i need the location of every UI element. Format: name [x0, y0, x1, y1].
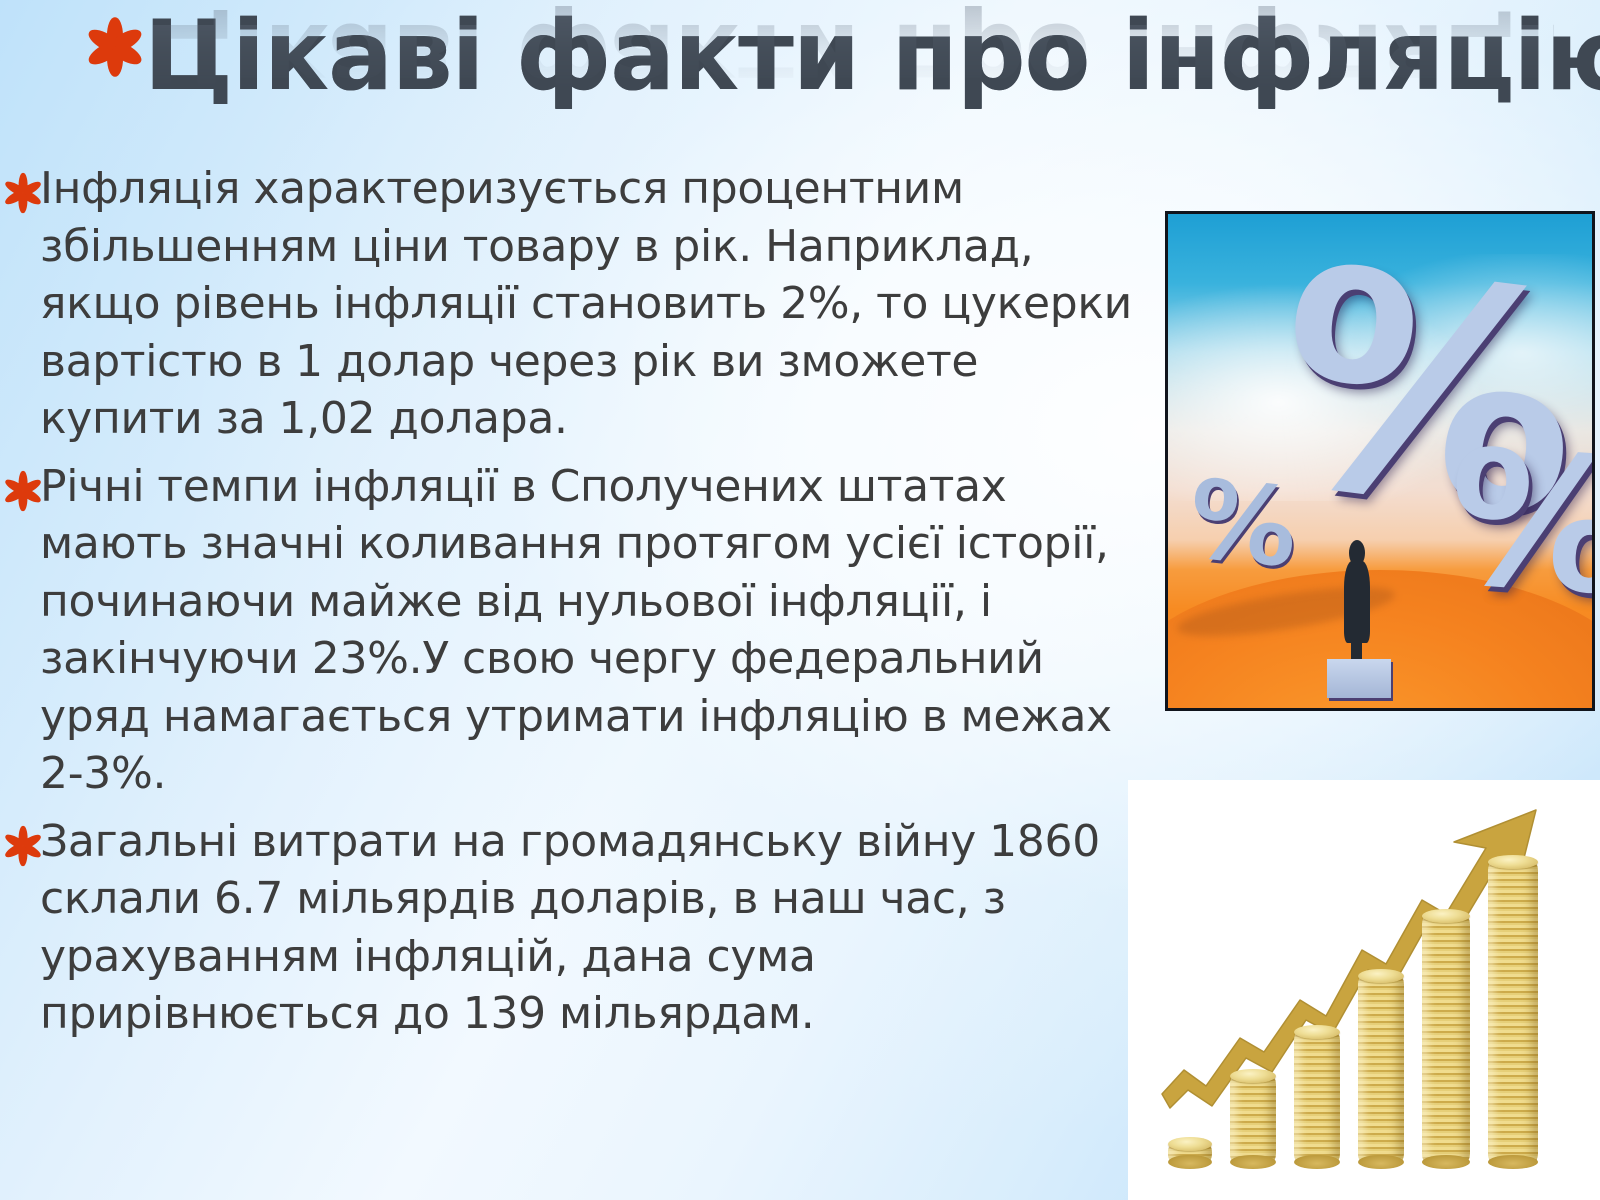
- bullet-text: Інфляція характеризується процентним збі…: [40, 160, 1150, 448]
- coin-stack: [1358, 976, 1404, 1162]
- percent-symbol-right: %: [1442, 425, 1595, 622]
- list-item: Річні темпи інфляції в Сполучених штатах…: [0, 458, 1150, 803]
- coin-stack: [1168, 1144, 1212, 1162]
- percent-symbols-illustration: % % %: [1165, 211, 1595, 711]
- page-title-reflection: Цікаві факти про інфляцію: [144, 6, 1554, 110]
- list-item: Загальні витрати на громадянську війну 1…: [0, 813, 1150, 1043]
- coin-chart-stage: [1154, 794, 1574, 1186]
- pedestal: [1327, 659, 1391, 699]
- coin-stack: [1422, 916, 1470, 1162]
- bullet-list: Інфляція характеризується процентним збі…: [0, 160, 1150, 1053]
- bullet-text: Річні темпи інфляції в Сполучених штатах…: [40, 458, 1150, 803]
- flower-asterisk-icon: [6, 172, 40, 214]
- slide-title-block: Цікаві факти про інфляцію Цікаві факти п…: [48, 4, 1568, 164]
- businessman-body: [1344, 561, 1369, 643]
- title-flower-asterisk-icon: [84, 16, 146, 78]
- coin-stack: [1230, 1076, 1276, 1162]
- businessman-figure: [1338, 535, 1376, 663]
- coin-stack: [1488, 862, 1538, 1162]
- list-item: Інфляція характеризується процентним збі…: [0, 160, 1150, 448]
- flower-asterisk-icon: [6, 825, 40, 867]
- percent-symbol-small: %: [1184, 466, 1303, 585]
- coin-stacks-growth-chart: [1128, 780, 1600, 1200]
- flower-asterisk-icon: [6, 470, 40, 512]
- bullet-text: Загальні витрати на громадянську війну 1…: [40, 813, 1150, 1043]
- presentation-slide: Цікаві факти про інфляцію Цікаві факти п…: [0, 0, 1600, 1200]
- coin-stack: [1294, 1032, 1340, 1162]
